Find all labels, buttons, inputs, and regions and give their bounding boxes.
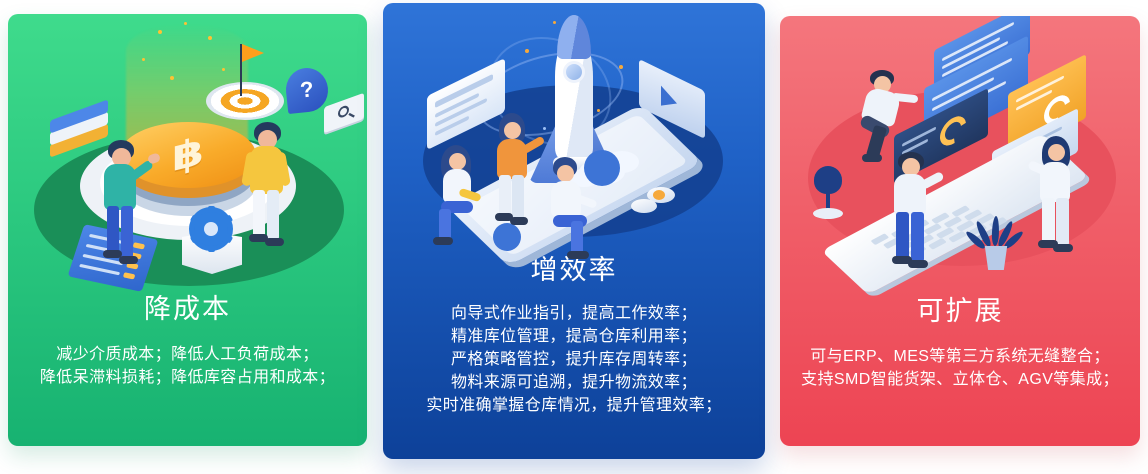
person-figure [240, 122, 300, 254]
spark-dot [619, 65, 623, 69]
rock-shape [631, 199, 657, 213]
spark-dot [208, 36, 212, 40]
flag-icon [242, 44, 264, 62]
card-text-block: 增效率 向导式作业指引，提高工作效率； 精准库位管理，提高仓库利用率； 严格策略… [383, 255, 765, 417]
lamp-icon [810, 166, 850, 226]
description-line: 减少介质成本；降低人工负荷成本； [8, 343, 367, 366]
description-line: 精准库位管理，提高仓库利用率； [383, 325, 765, 348]
card-description: 减少介质成本；降低人工负荷成本； 降低呆滞料损耗；降低库容占用和成本； [8, 343, 367, 389]
spark-dot [525, 49, 529, 53]
spark-dot [170, 76, 174, 80]
target-icon [206, 82, 284, 120]
description-line: 实时准确掌握仓库情况，提升管理效率； [383, 394, 765, 417]
description-line: 严格策略管控，提升库存周转率； [383, 348, 765, 371]
description-line: 支持SMD智能货架、立体仓、AGV等集成； [780, 368, 1140, 391]
card-title: 降成本 [8, 296, 367, 323]
feature-card-extensibility[interactable]: 可扩展 可与ERP、MES等第三方系统无缝整合； 支持SMD智能货架、立体仓、A… [780, 16, 1140, 446]
search-note-icon [324, 93, 364, 134]
gear-box-icon [174, 210, 250, 276]
spark-dot [158, 30, 162, 34]
person-figure [431, 145, 487, 249]
description-line: 降低呆滞料损耗；降低库容占用和成本； [8, 366, 367, 389]
feature-card-efficiency-boost[interactable]: 增效率 向导式作业指引，提高工作效率； 精准库位管理，提高仓库利用率； 严格策略… [383, 3, 765, 459]
card-description: 向导式作业指引，提高工作效率； 精准库位管理，提高仓库利用率； 严格策略管控，提… [383, 302, 765, 417]
illustration-rocket-scene [383, 3, 765, 255]
card-text-block: 降成本 减少介质成本；降低人工负荷成本； 降低呆滞料损耗；降低库容占用和成本； [8, 292, 367, 389]
person-figure [884, 152, 944, 272]
card-description: 可与ERP、MES等第三方系统无缝整合； 支持SMD智能货架、立体仓、AGV等集… [780, 345, 1140, 391]
description-line: 可与ERP、MES等第三方系统无缝整合； [780, 345, 1140, 368]
person-figure [487, 113, 543, 231]
card-title: 可扩展 [780, 298, 1140, 325]
spark-dot [142, 58, 145, 61]
feature-card-cost-reduction[interactable]: ? ฿ [8, 14, 367, 446]
description-line: 向导式作业指引，提高工作效率； [383, 302, 765, 325]
spark-dot [184, 22, 187, 25]
illustration-coin-scene: ? ฿ [8, 14, 367, 292]
question-bubble-icon: ? [284, 66, 330, 114]
plant-icon [970, 216, 1022, 274]
illustration-laptop-scene [780, 16, 1140, 288]
description-line: 物料来源可追溯，提升物流效率； [383, 371, 765, 394]
card-text-block: 可扩展 可与ERP、MES等第三方系统无缝整合； 支持SMD智能货架、立体仓、A… [780, 288, 1140, 391]
feature-cards-board: ? ฿ [0, 0, 1148, 474]
spark-dot [222, 68, 225, 71]
person-figure [541, 157, 599, 265]
person-figure [1030, 136, 1088, 262]
person-figure [94, 140, 154, 270]
